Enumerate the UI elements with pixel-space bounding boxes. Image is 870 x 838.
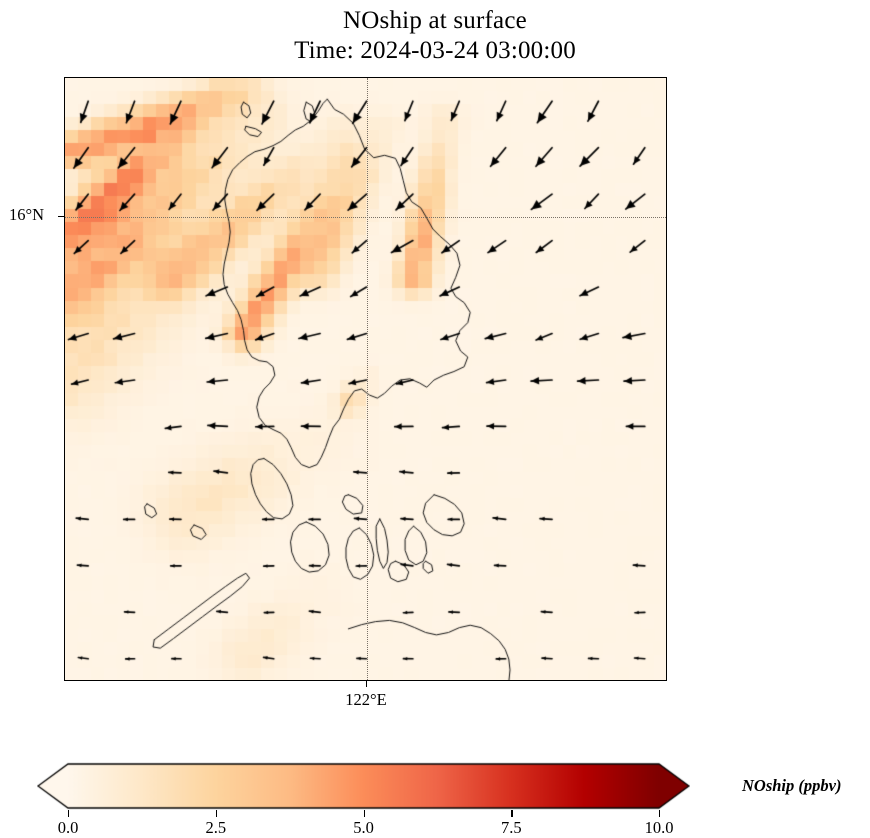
- axis-label-longitude: 122°E: [345, 690, 386, 710]
- colorbar-bar[interactable]: 0.02.55.07.510.0: [37, 762, 690, 810]
- figure-title: NOship at surface Time: 2024-03-24 03:00…: [0, 6, 870, 65]
- colorbar[interactable]: 0.02.55.07.510.0 NOship (ppbv): [0, 752, 870, 836]
- colorbar-tick: [68, 810, 69, 817]
- colorbar-tick: [511, 810, 512, 817]
- axis-label-latitude: 16°N: [9, 205, 44, 225]
- colorbar-title: NOship (ppbv): [742, 776, 841, 796]
- axis-tick-latitude: [58, 216, 64, 217]
- colorbar-tick: [216, 810, 217, 817]
- colorbar-gradient: [37, 762, 690, 810]
- colorbar-tick-label: 5.0: [353, 818, 374, 838]
- colorbar-tick-label: 7.5: [501, 818, 522, 838]
- colorbar-tick-label: 2.5: [205, 818, 226, 838]
- colorbar-tick: [659, 810, 660, 817]
- colorbar-tick: [364, 810, 365, 817]
- title-main: NOship at surface: [0, 6, 870, 36]
- colorbar-tick-label: 10.0: [645, 818, 674, 838]
- axis-tick-longitude: [366, 681, 367, 687]
- coastline-and-wind-overlay: [65, 78, 667, 681]
- title-subtitle: Time: 2024-03-24 03:00:00: [0, 36, 870, 66]
- map-axes[interactable]: [64, 77, 667, 681]
- colorbar-tick-label: 0.0: [58, 818, 79, 838]
